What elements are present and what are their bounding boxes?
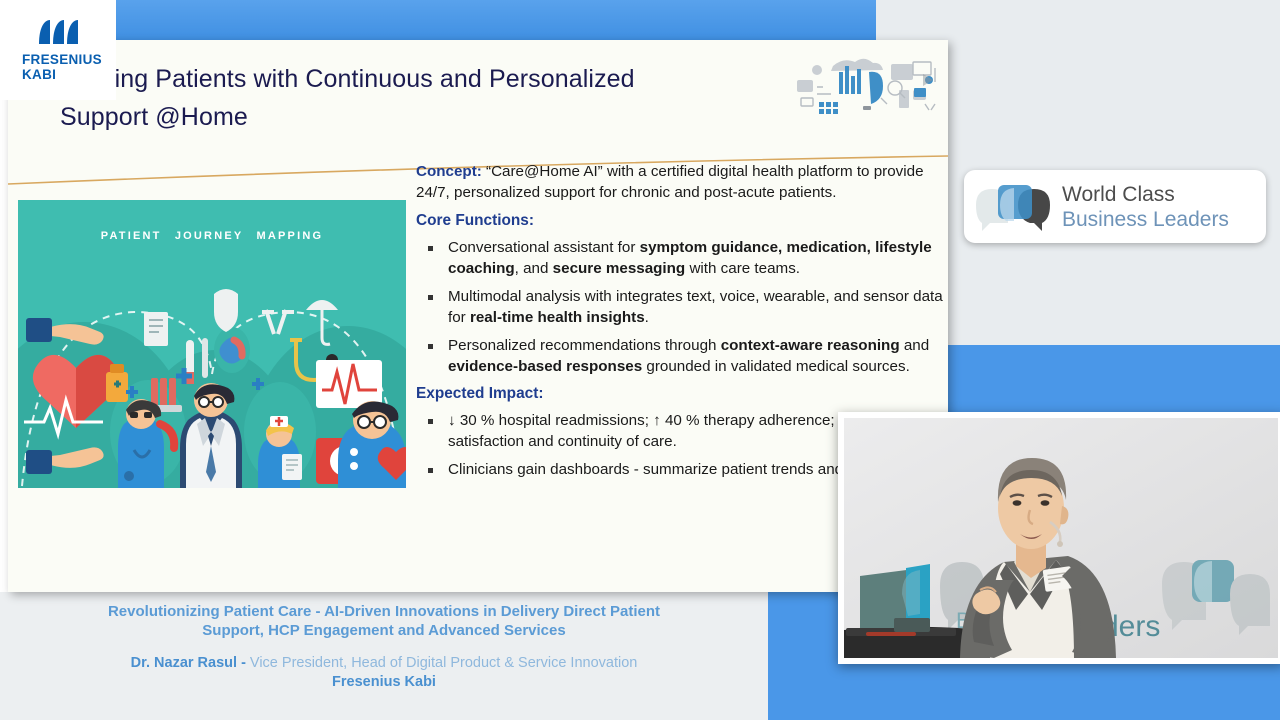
brand-line-1: FRESENIUS: [22, 52, 94, 67]
concept-label: Concept:: [416, 163, 482, 180]
list-item: Personalized recommendations through con…: [416, 336, 944, 377]
emphasis-text: real-time health insights: [470, 309, 645, 326]
list-item: Conversational assistant for symptom gui…: [416, 238, 944, 279]
core-functions-list: Conversational assistant for symptom gui…: [416, 238, 944, 377]
event-logo-text: World Class Business Leaders: [1062, 182, 1229, 232]
patient-journey-image: PATIENT JOURNEY MAPPING: [18, 200, 406, 488]
fresenius-kabi-logo: FRESENIUS KABI: [0, 0, 116, 100]
body-text: with care teams.: [685, 260, 800, 277]
digital-health-collage-icon: [795, 54, 947, 120]
world-class-business-leaders-logo: World Class Business Leaders: [964, 170, 1266, 243]
session-title-line1: Revolutionizing Patient Care - AI-Driven…: [108, 603, 660, 620]
journey-word-patient: PATIENT: [101, 230, 162, 242]
body-text: and: [900, 337, 930, 354]
concept-text: “Care@Home AI” with a certified digital …: [416, 163, 924, 201]
presenter-video-frame[interactable]: B ders: [844, 418, 1278, 658]
speaker-name: Dr. Nazar Rasul -: [131, 655, 250, 671]
background-blue-bar-top: [116, 0, 876, 42]
speaker-info: Dr. Nazar Rasul - Vice President, Head o…: [0, 654, 768, 692]
emphasis-text: secure messaging: [553, 260, 686, 277]
body-text: grounded in validated medical sources.: [642, 358, 910, 375]
list-item: Multimodal analysis with integrates text…: [416, 287, 944, 328]
speaker-company: Fresenius Kabi: [332, 674, 436, 690]
event-logo-line1: World Class: [1062, 182, 1229, 207]
body-text: Clinicians gain dashboards - summarize p…: [448, 461, 889, 478]
body-text: , and: [515, 260, 553, 277]
expected-impact-heading: Expected Impact:: [416, 385, 944, 403]
brand-line-2: KABI: [22, 67, 94, 82]
fresenius-wave-icon: [35, 18, 81, 49]
presenter-video-overlay[interactable]: B ders: [838, 412, 1280, 664]
journey-word-mapping: MAPPING: [257, 230, 324, 242]
emphasis-text: evidence-based responses: [448, 358, 642, 375]
presentation-slide: owering Patients with Continuous and Per…: [8, 40, 948, 592]
session-title: Revolutionizing Patient Care - AI-Driven…: [0, 596, 768, 640]
session-caption: Revolutionizing Patient Care - AI-Driven…: [0, 596, 768, 692]
concept-paragraph: Concept: “Care@Home AI” with a certified…: [416, 162, 944, 203]
body-text: ↓ 30 % hospital readmissions; ↑ 40 % the…: [448, 412, 884, 450]
body-text: .: [645, 309, 649, 326]
fresenius-kabi-wordmark: FRESENIUS KABI: [22, 52, 94, 82]
slide-title-line2: Support @Home: [60, 103, 248, 131]
speech-bubbles-icon: [972, 179, 1058, 235]
core-functions-heading: Core Functions:: [416, 212, 944, 230]
slide-title-line1: owering Patients with Continuous and Per…: [60, 65, 635, 93]
journey-image-caption: PATIENT JOURNEY MAPPING: [18, 230, 406, 242]
body-text: Personalized recommendations through: [448, 337, 721, 354]
event-logo-line2: Business Leaders: [1062, 207, 1229, 232]
speaker-role: Vice President, Head of Digital Product …: [250, 655, 637, 671]
journey-word-journey: JOURNEY: [175, 230, 243, 242]
emphasis-text: context-aware reasoning: [721, 337, 900, 354]
body-text: Conversational assistant for: [448, 239, 640, 256]
session-title-line2: Support, HCP Engagement and Advanced Ser…: [202, 622, 565, 639]
slide-title: owering Patients with Continuous and Per…: [60, 60, 780, 136]
